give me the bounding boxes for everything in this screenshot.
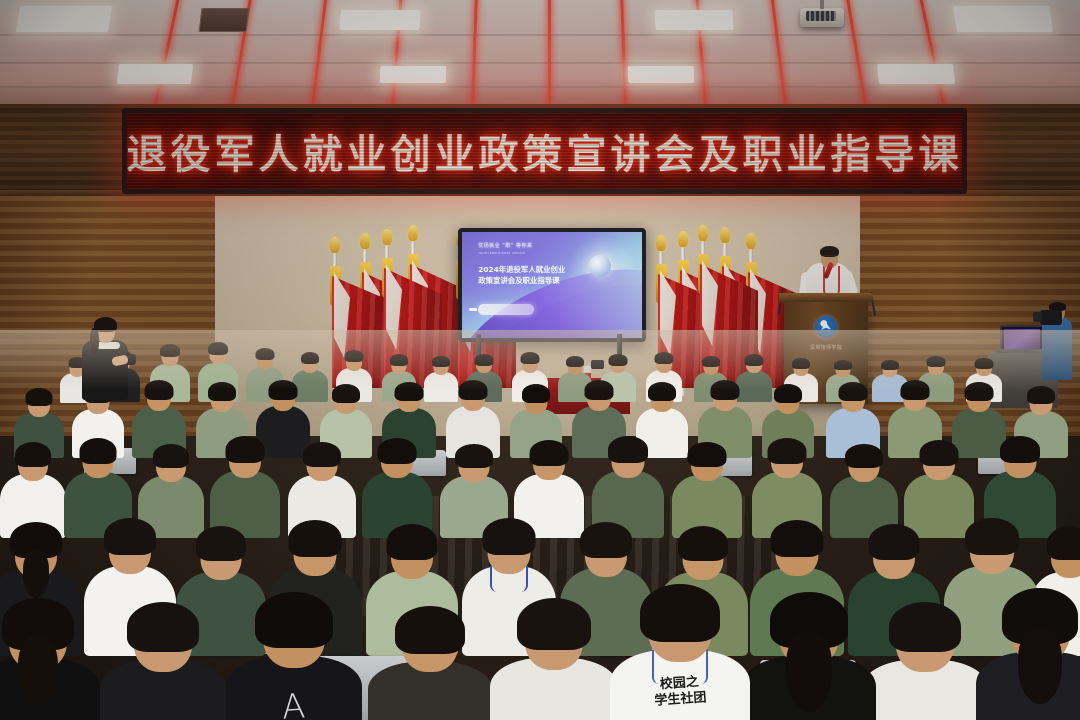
ceiling-light-panel [380, 66, 447, 83]
lanyard [490, 566, 528, 592]
photograph-scene: 退役军人就业创业政策宣讲会及职业指导课 [0, 0, 1080, 720]
audience-person [0, 598, 100, 720]
audience-person: A [226, 592, 362, 720]
ceiling-light-panel [654, 10, 733, 30]
audience-person [672, 442, 742, 538]
ceiling-light-panel [953, 6, 1053, 32]
audience-person [976, 588, 1080, 720]
ceiling-light-panel [339, 10, 420, 30]
ceiling-light-panel [16, 6, 112, 32]
presentation-screen: 优扬就业 “职” 等你来 YOUTH EMPLOYMENT SERVICE 20… [458, 228, 646, 342]
slide-title: 2024年退役军人就业创业 政策宣讲会及职业指导课 [478, 264, 590, 287]
audience-person [742, 592, 876, 720]
slide-title-line1: 2024年退役军人就业创业 [478, 264, 590, 275]
ceiling-light-panel [117, 64, 193, 84]
shirt-text: 校园之 学生社团 [653, 674, 707, 710]
ceiling-vent [199, 8, 250, 32]
led-banner: 退役军人就业创业政策宣讲会及职业指导课 [122, 108, 967, 194]
audience-person [862, 602, 988, 720]
ceiling-led-strips [0, 0, 1080, 112]
slide-highlight-bar [478, 304, 534, 315]
ceiling-light-panel [628, 66, 695, 83]
speaker-glasses-icon [821, 255, 838, 259]
slide-background: 优扬就业 “职” 等你来 YOUTH EMPLOYMENT SERVICE 20… [462, 232, 642, 338]
audience-person [100, 602, 226, 720]
audience-person [362, 438, 432, 538]
ceiling [0, 0, 1080, 112]
slide-title-line2: 政策宣讲会及职业指导课 [478, 275, 590, 286]
ceiling-projector-icon [800, 8, 844, 27]
slide-header-en: YOUTH EMPLOYMENT SERVICE [478, 251, 525, 255]
jacket-letter: A [280, 685, 307, 720]
audience-person [368, 606, 492, 720]
camera-icon [1040, 310, 1062, 325]
standing-staff-member [82, 318, 128, 400]
audience: A 校园之 学生社团 [0, 330, 1080, 720]
led-banner-text: 退役军人就业创业政策宣讲会及职业指导课 [127, 122, 963, 180]
slide-header-cn: 优扬就业 “职” 等你来 [478, 242, 532, 249]
audience-person [490, 598, 618, 720]
ceiling-light-panel [877, 64, 955, 84]
audience-person: 校园之 学生社团 [610, 584, 750, 720]
